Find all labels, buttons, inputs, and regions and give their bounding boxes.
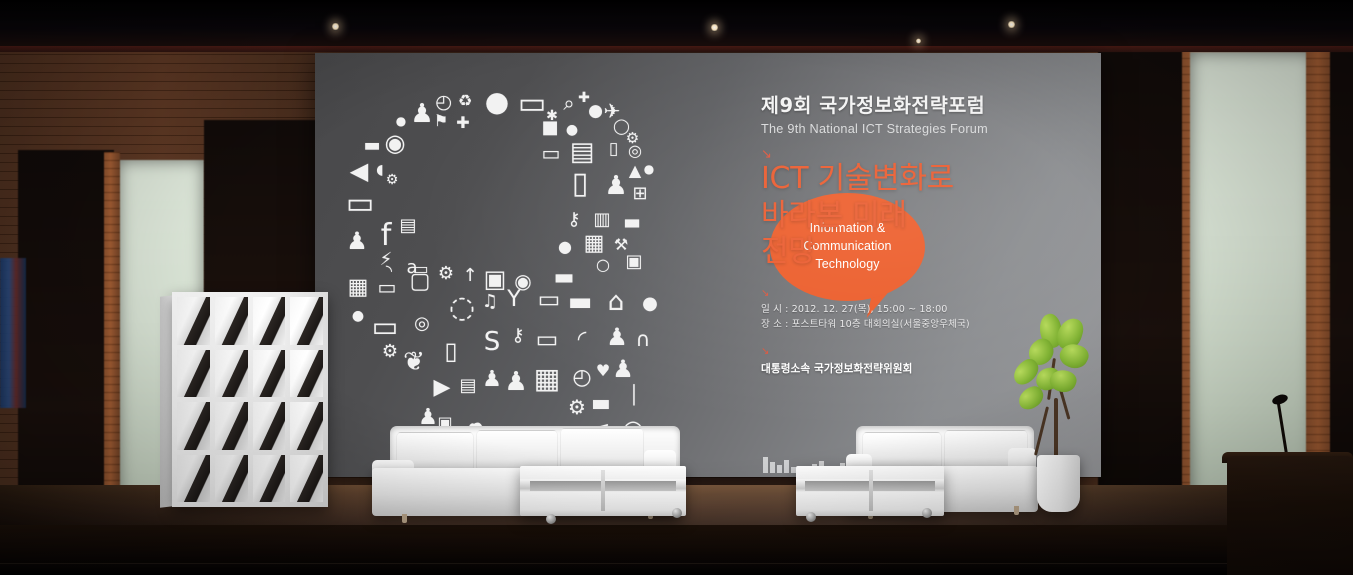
conference-stage-scene: ◴♻●▭✱⌕✚●✈♟●⚑✚■●◯◉▬⚙▤▭▯◎◀◖⚙▯▲●▭♟⊞f▤♟⚷▥▃⚡a…: [0, 0, 1353, 575]
banner-title: ICT 기술변화로 바라본 미래 전망: [761, 161, 1091, 271]
apple-icon: ❦: [401, 349, 427, 375]
lightbulb-icon: ●: [557, 239, 573, 255]
briefcase-med-icon: ✚: [455, 115, 471, 131]
smartphone-icon: ▯: [565, 169, 595, 199]
barchart2-icon: ▃: [591, 387, 611, 407]
bed-icon: ▭: [413, 261, 429, 277]
droplet-icon: ●: [395, 115, 407, 127]
clipboard-icon: ▤: [399, 217, 417, 235]
speech-dots-icon: ▬: [363, 137, 381, 155]
table-caster: [546, 514, 556, 524]
heart-icon: ♥: [595, 363, 611, 379]
shelf-cell: [215, 402, 248, 450]
shelf-cell: [290, 350, 323, 398]
person6-icon: ♟: [503, 369, 529, 395]
shelf-cell: [290, 297, 323, 345]
location-pin-icon: ◉: [383, 131, 407, 155]
chat-icon: ▭: [345, 189, 375, 219]
scooter-icon: ○: [595, 257, 611, 273]
globe-icon: ◌: [447, 293, 477, 323]
title-line-2: 바라본 미래: [761, 198, 1091, 235]
white-cube-bookshelf: [172, 292, 328, 507]
antenna-icon: ↑: [461, 267, 479, 285]
book-icon: ▭: [537, 287, 561, 311]
thermometer-icon: │: [625, 387, 643, 405]
gear3-icon: ⚙: [437, 265, 455, 283]
table-caster: [672, 508, 682, 518]
tv-icon: ▣: [483, 267, 507, 291]
event-banner-backdrop: ◴♻●▭✱⌕✚●✈♟●⚑✚■●◯◉▬⚙▤▭▯◎◀◖⚙▯▲●▭♟⊞f▤♟⚷▥▃⚡a…: [315, 53, 1101, 477]
recycle-icon: ♻: [457, 93, 473, 109]
gameboy-icon: ▯: [439, 339, 463, 363]
person4-icon: ♟: [605, 325, 629, 349]
ceiling-spotlight: [1008, 20, 1015, 29]
camcorder-icon: ▭: [371, 313, 399, 341]
suitcase-icon: ▭: [535, 327, 559, 351]
shelf-cell: [253, 350, 286, 398]
stage-base: [0, 563, 1353, 575]
shelf-cell: [253, 297, 286, 345]
ceiling-spotlight: [916, 38, 921, 44]
ipod-icon: ▭: [517, 89, 547, 119]
shelf-cell: [215, 297, 248, 345]
music-note-icon: ♫: [481, 293, 499, 311]
tractor-icon: ▣: [625, 253, 643, 271]
shelf-cell: [253, 455, 286, 503]
shelf-cell: [253, 402, 286, 450]
person5-icon: ♟: [481, 369, 503, 391]
skype-icon: S: [479, 329, 505, 355]
fax-icon: ▦: [533, 365, 561, 393]
decorative-bar: [784, 460, 789, 473]
ceiling-spotlight: [332, 22, 339, 31]
router-icon: ▭: [377, 277, 397, 297]
ceiling-rim-light: [0, 46, 1353, 53]
rss-icon: ◜: [571, 329, 593, 351]
title-line-1: ICT 기술변화로: [761, 161, 1091, 198]
plant-trunk: [1054, 398, 1058, 460]
droplet3-icon: ●: [643, 163, 655, 175]
wall-light-panel-right: [1190, 52, 1314, 504]
youtube-icon: ▶: [431, 377, 453, 399]
trash-icon: ▯: [605, 141, 622, 158]
decorative-bar: [777, 465, 782, 473]
shelf-cell: [215, 455, 248, 503]
barchart-icon: ▃: [623, 209, 641, 227]
event-datetime: 일 시 : 2012. 12. 27(목), 15:00 ~ 18:00: [761, 302, 1091, 318]
twitter2-icon: ●: [641, 295, 659, 313]
person-icon: ♟: [409, 101, 435, 127]
shelf-cell: [177, 402, 210, 450]
table-caster: [922, 508, 932, 518]
ceiling: [0, 0, 1353, 52]
yahoo-y-icon: Y: [503, 289, 525, 311]
shelf-cell: [290, 402, 323, 450]
gear4-icon: ⚙: [381, 343, 399, 361]
forum-name-korean: 제9회 국가정보화전략포럼: [761, 89, 1091, 118]
stage-front-face: [0, 525, 1353, 565]
videocam-icon: ▭: [541, 143, 561, 163]
shelf-cell: [177, 297, 210, 345]
glasses-icon: ◎: [627, 143, 643, 159]
battery-icon: ▥: [593, 211, 611, 229]
arrow-glyph-icon-small: ↘: [761, 289, 1091, 299]
droplet2-icon: ●: [565, 123, 579, 137]
person3-icon: ♟: [345, 229, 369, 253]
home-icon: ⌂: [603, 289, 629, 315]
shelf-cell: [215, 350, 248, 398]
radio-icon: ▤: [569, 139, 595, 165]
title-line-3: 전망: [761, 234, 1091, 271]
key-icon: ⚷: [509, 327, 527, 345]
headphones-icon: ∩: [633, 329, 653, 349]
wall-dark-panel-right: [1098, 50, 1184, 520]
table-divider: [601, 470, 605, 511]
plant-pot: [1037, 455, 1080, 512]
tshirt-icon: ▲: [627, 163, 643, 179]
facebook-icon: f: [371, 221, 401, 251]
gear5-icon: ⚙: [567, 397, 587, 417]
calendar-icon: ▦: [583, 233, 605, 255]
windows-icon: ⊞: [631, 185, 649, 203]
table-divider: [869, 470, 873, 511]
pushpin-icon: ⚑: [433, 113, 449, 129]
ict-icon-collage: ◴♻●▭✱⌕✚●✈♟●⚑✚■●◯◉▬⚙▤▭▯◎◀◖⚙▯▲●▭♟⊞f▤♟⚷▥▃⚡a…: [337, 81, 697, 441]
decorative-bar: [763, 457, 768, 473]
speaker-icon: ◀: [347, 159, 371, 183]
clock2-icon: ◴: [571, 367, 593, 389]
twitter-bird-icon: ●: [483, 88, 511, 116]
clipboard2-icon: ▤: [459, 377, 477, 395]
sofa-leg: [402, 514, 407, 523]
sofa-leg: [1014, 506, 1019, 515]
laptop-icon: ▬: [567, 289, 593, 315]
usb-icon: ⚷: [565, 211, 583, 229]
ceiling-spotlight: [711, 23, 718, 32]
decorative-bar: [770, 462, 775, 473]
wooden-podium: [1227, 456, 1353, 575]
national-flag: [0, 258, 26, 408]
gear2-icon: ⚙: [385, 173, 399, 187]
sofa-cushion: [862, 432, 942, 470]
wifi2-icon: ◝: [381, 263, 397, 279]
arrow-glyph-icon: ↘: [761, 148, 1091, 161]
wall-dark-panel-far-right: [1330, 50, 1353, 520]
speaker2-icon: ◎: [413, 315, 431, 333]
person7-icon: ♟: [611, 357, 635, 381]
shelf-cell: [177, 455, 210, 503]
forum-name-english: The 9th National ICT Strategies Forum: [761, 122, 1091, 136]
table-caster: [806, 512, 816, 522]
shelf-cell: [177, 350, 210, 398]
white-coffee-table-left: [520, 466, 686, 516]
person2-icon: ♟: [603, 173, 629, 199]
lock-icon: ■: [541, 119, 559, 137]
shelf-cell: [290, 455, 323, 503]
clock-icon: ◴: [434, 93, 453, 112]
droplet4-icon: ●: [351, 309, 365, 323]
calculator-icon: ▦: [347, 277, 369, 299]
search-plus-icon: ⌕: [559, 93, 579, 113]
white-coffee-table-right: [796, 466, 944, 516]
